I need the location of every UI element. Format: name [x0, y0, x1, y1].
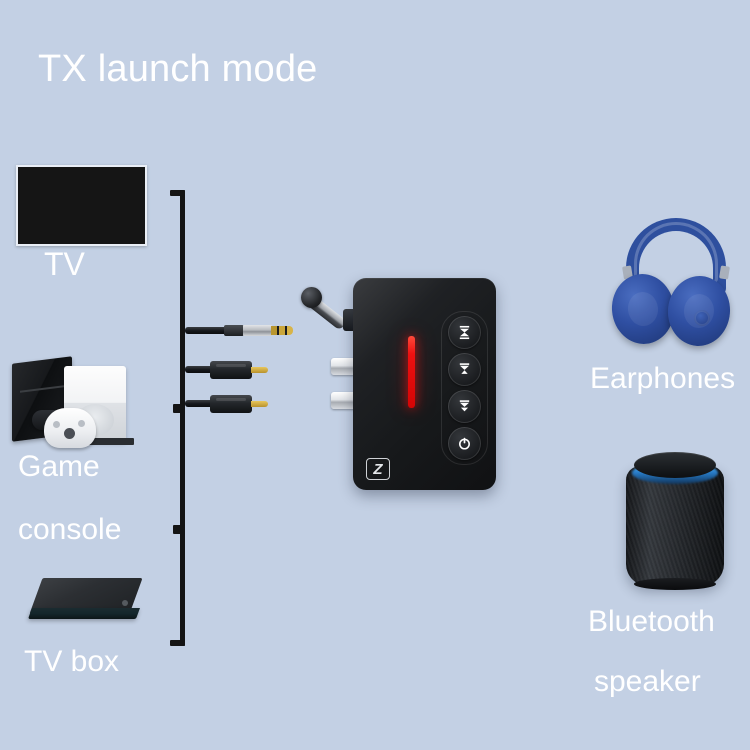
tv-box-indicator [122, 600, 128, 606]
ear-cup-logo [694, 310, 710, 326]
tv-box-icon [30, 578, 142, 632]
led-indicator [408, 336, 415, 408]
grouping-bracket [170, 190, 192, 646]
game-console-label-line2: console [18, 513, 121, 547]
next-track-icon [457, 399, 472, 414]
bracket-tick-top [170, 190, 185, 196]
bluetooth-speaker-label-line2: speaker [594, 665, 701, 699]
play-pause-button[interactable] [448, 353, 481, 386]
next-track-button[interactable] [448, 390, 481, 423]
page-title: TX launch mode [38, 48, 318, 91]
rca-plug-pin [251, 401, 268, 407]
controller-buttons [78, 420, 85, 427]
speaker-icon [626, 452, 724, 590]
power-icon [457, 436, 472, 451]
headband-slider-right [719, 265, 730, 279]
antenna [299, 283, 361, 345]
rca-plug-body [210, 395, 252, 413]
bracket-tick-middle-lower [173, 525, 185, 534]
aux-plug-barrel [243, 325, 272, 336]
controller-stick [64, 428, 75, 439]
power-button[interactable] [448, 427, 481, 460]
rca-plug [210, 361, 268, 379]
controller-dpad [53, 421, 60, 428]
game-console-icon [8, 358, 156, 450]
button-panel [441, 311, 488, 465]
aux-plug-grip [224, 325, 244, 336]
earphones-label: Earphones [590, 362, 735, 396]
brand-logo: Z [366, 458, 390, 480]
play-pause-icon [457, 362, 472, 377]
previous-track-button[interactable] [448, 316, 481, 349]
bluetooth-transmitter: Z [353, 278, 496, 490]
rca-cable-left [185, 366, 213, 373]
tv-label: TV [44, 246, 85, 283]
speaker-body [626, 466, 724, 586]
aux-cable [185, 327, 227, 334]
tv-box-side [28, 608, 140, 619]
rca-plug-body [210, 361, 252, 379]
aux-plug-contacts [271, 326, 293, 335]
rca-plug [210, 395, 268, 413]
diagram-canvas: TX launch mode TV Game console TV box [0, 0, 750, 750]
speaker-base [634, 578, 716, 590]
rca-cable-right [185, 400, 213, 407]
bracket-tick-middle-upper [173, 404, 185, 413]
bracket-spine [180, 190, 185, 646]
headphones-icon [612, 218, 740, 348]
3.5mm-aux-plug [224, 320, 294, 340]
bracket-tick-bottom [170, 640, 185, 646]
game-console-label-line1: Game [18, 450, 100, 484]
bluetooth-speaker-label-line1: Bluetooth [588, 605, 715, 639]
rca-plug-pin [251, 367, 268, 373]
xbox-controller [44, 408, 96, 448]
tv-screen-icon [16, 165, 147, 246]
previous-track-icon [457, 325, 472, 340]
speaker-top-panel [634, 452, 716, 478]
antenna-tip [301, 287, 322, 308]
tv-box-label: TV box [24, 645, 119, 679]
